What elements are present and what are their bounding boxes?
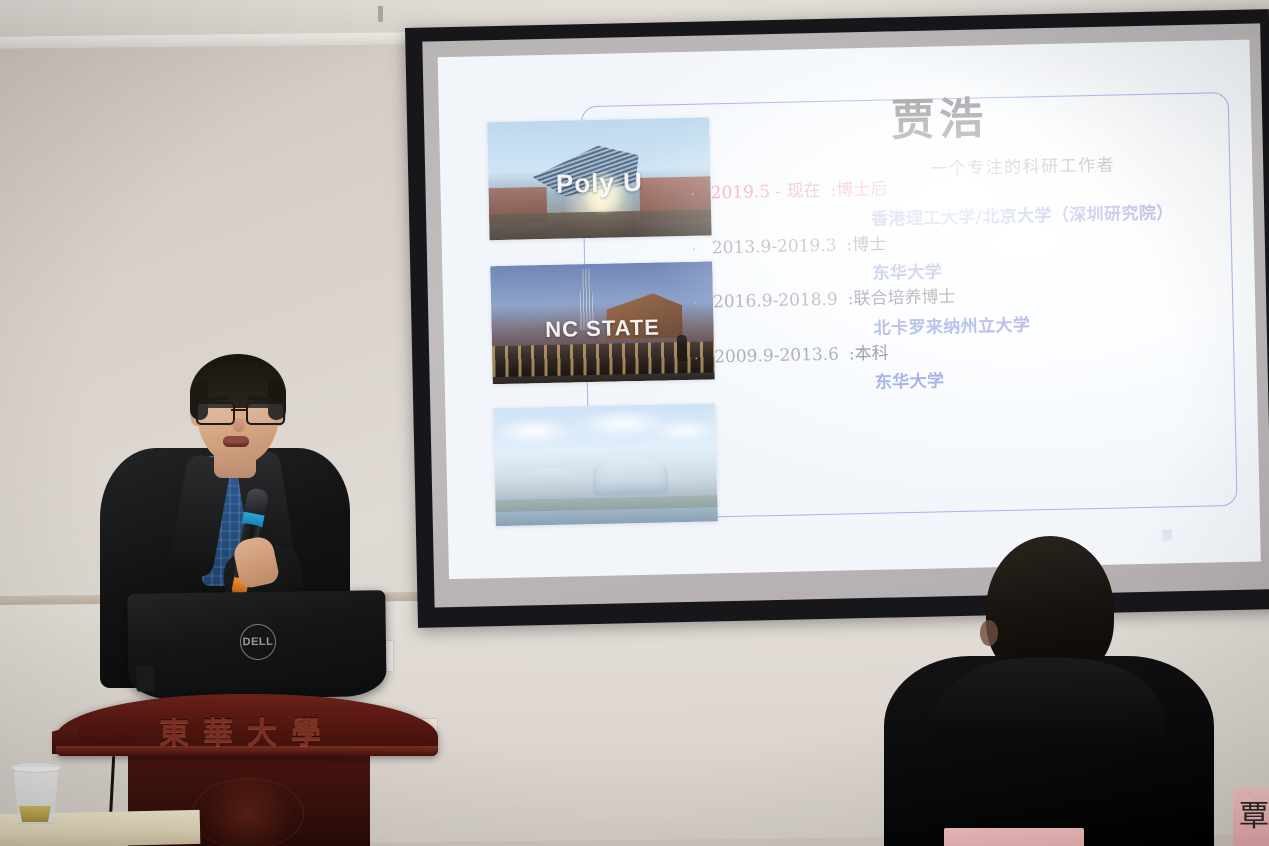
nc-state-campus-photo: NC STATE	[490, 261, 715, 384]
ncstate-silhouette	[677, 335, 688, 361]
lectern-seal-emblem	[192, 778, 304, 846]
audience-ear	[980, 620, 998, 646]
name-card-surname: 覃	[1239, 802, 1269, 832]
cv-entry-period: 2009.9-2013.6	[714, 342, 839, 370]
audience-head	[986, 536, 1114, 678]
glasses-bridge	[231, 409, 246, 411]
lake-photo-art	[493, 403, 718, 526]
cv-entry-role: :博士后	[830, 178, 887, 205]
cup-rim	[10, 762, 62, 773]
cup-tea-liquid	[18, 806, 52, 822]
name-card-top-marks: · ·	[1239, 791, 1254, 797]
polyu-campus-photo: Poly U	[487, 117, 712, 240]
cv-entry-role: :联合培养博士	[847, 285, 955, 313]
cv-entry-period: 2016.9-2018.9	[713, 288, 838, 316]
name-card-center	[944, 828, 1084, 846]
cv-entry-role: :博士	[846, 232, 886, 258]
presenter-nose	[233, 418, 245, 432]
monitor-stand	[136, 665, 154, 691]
cv-entry-period: 2019.5 - 现在	[710, 179, 821, 207]
projected-slide: Poly U NC STATE	[438, 40, 1261, 580]
glasses-lens-left	[196, 402, 235, 425]
dell-logo-icon: DELL	[240, 623, 276, 659]
lectern-university-name: 東華大學	[56, 708, 438, 752]
lake-clouds	[493, 408, 716, 460]
bullet-icon: ·	[692, 240, 702, 260]
presenter-mouth	[223, 436, 249, 447]
glasses-lens-right	[246, 402, 285, 425]
name-card-right: · · 覃	[1233, 788, 1269, 846]
audience-member	[884, 528, 1214, 846]
tea-cup	[10, 760, 60, 822]
lecture-photo-scene: Poly U NC STATE	[0, 0, 1269, 846]
slide-title: 贾浩	[891, 97, 988, 143]
polyu-wordmark: Poly U	[488, 167, 711, 198]
bullet-icon: ·	[693, 295, 703, 315]
bullet-icon: ·	[694, 349, 704, 369]
cv-entry-joint-phd: · 2016.9-2018.9 :联合培养博士 北卡罗来纳州立大学	[693, 279, 1254, 343]
lake-campus-photo	[493, 403, 718, 526]
cv-entry-period: 2013.9-2019.3	[712, 233, 837, 261]
cv-entry-list: · 2019.5 - 现在 :博士后 香港理工大学/北京大学（深圳研究院） · …	[690, 170, 1255, 400]
cv-entry-role: :本科	[849, 341, 889, 367]
cv-entry-phd: · 2013.9-2019.3 :博士 东华大学	[692, 224, 1253, 288]
bullet-icon: ·	[691, 186, 701, 206]
lake-stadium-building	[592, 454, 668, 496]
screen-mount-bracket-left	[378, 6, 383, 22]
cv-entry-bachelor: · 2009.9-2013.6 :本科 东华大学	[694, 333, 1255, 397]
dell-monitor: DELL	[127, 590, 386, 700]
lake-dome-building	[526, 468, 575, 495]
cv-entry-postdoc: · 2019.5 - 现在 :博士后 香港理工大学/北京大学（深圳研究院）	[690, 170, 1251, 234]
